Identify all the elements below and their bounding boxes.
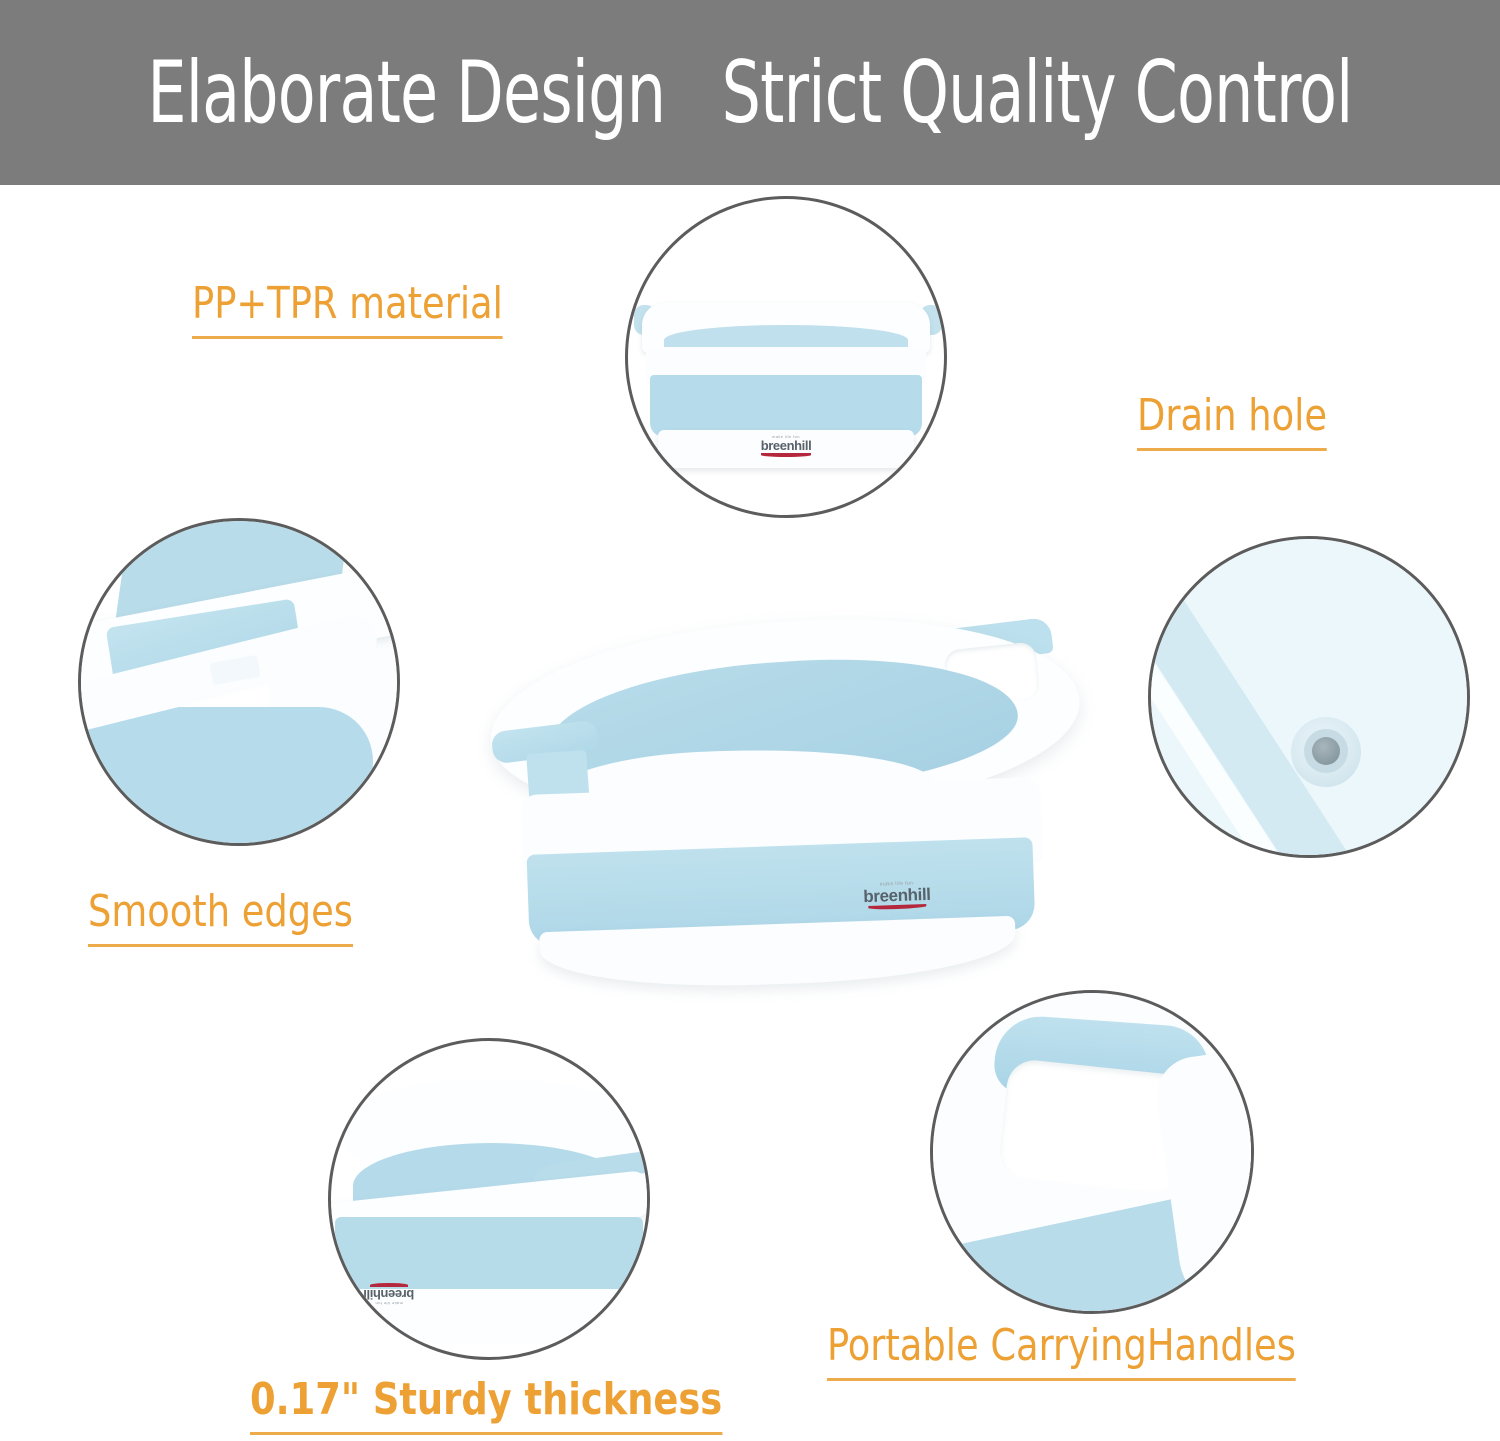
brand-name: breenhill (842, 885, 953, 906)
basket-blue-band-shape (81, 707, 378, 843)
header-banner: Elaborate Design Strict Quality Control (0, 0, 1500, 185)
page-title: Elaborate Design Strict Quality Control (150, 0, 1350, 185)
basket-blue-band-shape (650, 375, 922, 437)
drain-hole-icon (1151, 539, 1467, 855)
basket-front-view-icon: make life fun breenhill (628, 199, 944, 515)
callout-label-sturdy-thickness: 0.17" Sturdy thickness (250, 1374, 722, 1435)
callout-circle-carrying-handles (930, 990, 1254, 1314)
main-product-image: make life fun breenhill (470, 600, 1120, 1020)
brand-logo: make life fun breenhill (738, 435, 834, 461)
brand-logo-inverted: make life fun breenhill (353, 1283, 425, 1305)
carry-handle-icon (933, 993, 1251, 1311)
brand-swoosh-icon (761, 453, 811, 457)
brand-name: breenhill (738, 439, 834, 452)
callout-circle-drain-hole (1148, 536, 1470, 858)
callout-circle-material: make life fun breenhill (625, 196, 947, 518)
callout-circle-smooth-edges (78, 518, 400, 846)
callout-label-drain-hole: Drain hole (1137, 390, 1327, 451)
callout-label-material: PP+TPR material (192, 278, 503, 339)
drain-aperture-shape (1312, 737, 1340, 765)
brand-name: breenhill (353, 1288, 425, 1301)
smooth-edge-icon (81, 521, 397, 843)
brand-logo: make life fun breenhill (842, 880, 953, 914)
callout-label-carrying-handles: Portable CarryingHandles (827, 1320, 1296, 1381)
callout-label-smooth-edges: Smooth edges (88, 886, 353, 947)
callout-circle-sturdy-thickness: make life fun breenhill (328, 1038, 650, 1360)
wall-thickness-icon: make life fun breenhill (331, 1041, 647, 1357)
